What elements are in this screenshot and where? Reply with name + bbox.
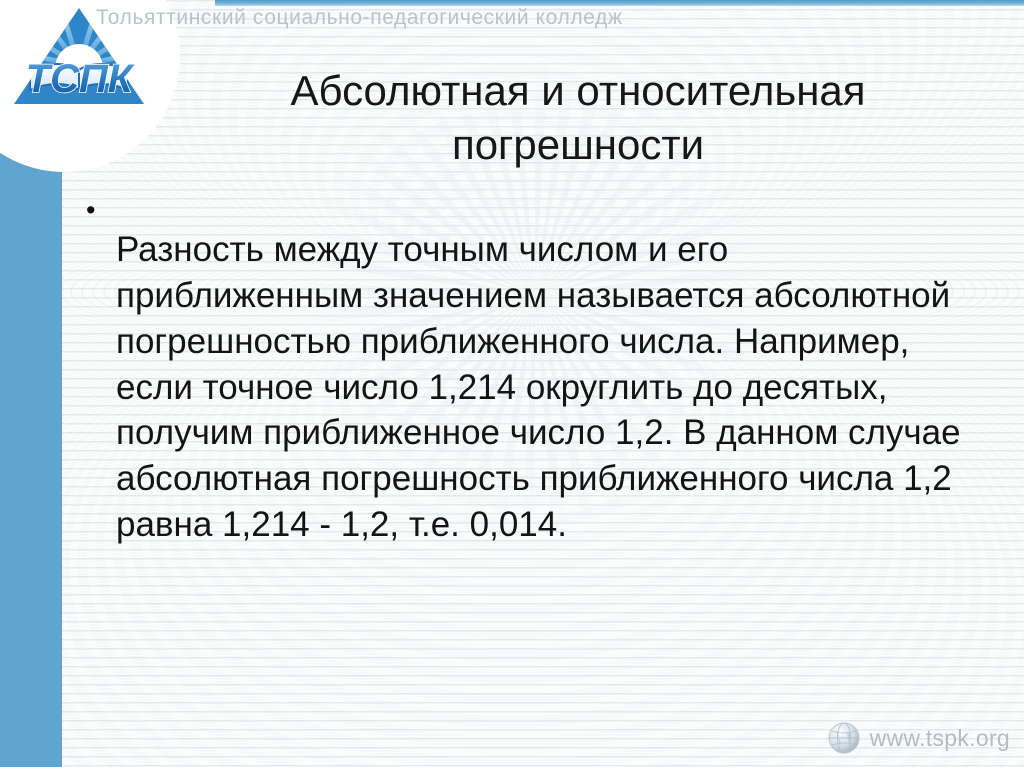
bullet-item: • Разность между точным числом и его при… <box>86 192 966 583</box>
footer-url-text: www.tspk.org <box>870 725 1010 752</box>
bullet-text: Разность между точным числом и его прибл… <box>116 227 966 548</box>
logo-letters: ТСПК <box>26 57 135 101</box>
footer-watermark: www.tspk.org <box>827 721 1010 755</box>
institution-name: Тольяттинский социально-педагогический к… <box>96 6 916 30</box>
slide-canvas: ТСПК Тольяттинский социально-педагогичес… <box>0 0 1024 767</box>
slide-title: Абсолютная и относительная погрешности <box>200 64 956 172</box>
globe-icon <box>827 721 861 755</box>
bullet-marker-icon: • <box>86 192 116 210</box>
slide-body: • Разность между точным числом и его при… <box>86 192 966 583</box>
